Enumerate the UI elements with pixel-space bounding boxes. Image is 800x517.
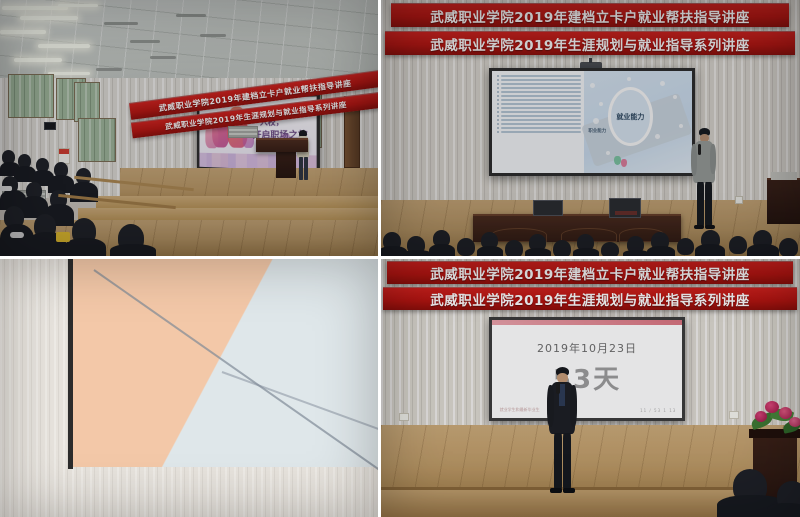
slide-countdown: 2019年10月23日 53天 就业学生和最新毕业生 11 / 53 1 13 — [492, 320, 682, 418]
list-item — [497, 99, 581, 101]
wall-socket — [729, 411, 739, 419]
ceiling-light — [38, 44, 90, 48]
ceiling-fixture — [104, 22, 138, 25]
list-item — [497, 91, 581, 93]
snowball-label: 就业能力 — [616, 112, 644, 122]
list-item — [497, 107, 581, 109]
hall-banner-bottom: 武威职业学院2019年生涯规划与就业指导系列讲座 — [385, 31, 795, 55]
slide-bullet-list — [492, 71, 584, 173]
list-item — [497, 111, 581, 113]
list-item — [497, 83, 581, 85]
window-curtain — [74, 82, 100, 122]
wall-socket — [399, 413, 409, 421]
snowball-label-small: 职业能力 — [588, 128, 606, 134]
hall-banner-bottom: 武威职业学院2019年生涯规划与就业指导系列讲座 — [383, 287, 797, 310]
slide-countdown-value: 53天 — [492, 359, 682, 396]
ceiling-fixture — [130, 40, 160, 43]
flower — [765, 401, 779, 413]
list-item — [497, 127, 581, 129]
list-item — [497, 75, 581, 77]
photo-panel-bottom-left — [0, 259, 378, 517]
ceiling-fixture — [96, 68, 122, 71]
projection-backdrop — [72, 259, 378, 467]
ceiling-light — [0, 30, 46, 34]
projection-screen-frame: 2019年10月23日 53天 就业学生和最新毕业生 11 / 53 1 13 — [489, 317, 685, 421]
slide-date: 2019年10月23日 — [492, 340, 682, 356]
ceiling-fixture — [200, 34, 226, 37]
list-item — [497, 103, 581, 105]
stage-table — [256, 138, 308, 152]
hall-banner-top: 武威职业学院2019年建档立卡户就业帮扶指导讲座 — [387, 261, 793, 284]
wall-socket — [735, 196, 743, 204]
slide-accent-bar — [492, 320, 682, 325]
ceiling-light — [14, 58, 62, 62]
list-item — [497, 131, 581, 133]
stage-monitor — [609, 198, 641, 218]
projection-screen-frame: 就业能力 职业能力 — [489, 68, 695, 176]
projection-screen: 2019年10月23日 53天 就业学生和最新毕业生 11 / 53 1 13 — [492, 320, 682, 418]
list-item — [497, 87, 581, 89]
slide-employability: 就业能力 职业能力 — [492, 71, 692, 173]
photo-panel-bottom-right: 武威职业学院2019年建档立卡户就业帮扶指导讲座 武威职业学院2019年生涯规划… — [381, 259, 800, 517]
ceiling-fixture — [150, 56, 176, 59]
microphone — [556, 382, 560, 394]
list-item — [497, 79, 581, 81]
window-curtain — [8, 74, 54, 118]
hall-banner-top: 武威职业学院2019年建档立卡户就业帮扶指导讲座 — [391, 3, 789, 27]
slide-snowball-diagram: 就业能力 职业能力 — [584, 71, 692, 173]
stage-monitor — [533, 200, 563, 216]
ceiling-fixture — [176, 14, 206, 17]
slide-footnote: 就业学生和最新毕业生 — [500, 407, 540, 413]
flower — [789, 417, 800, 427]
ceiling-light — [58, 4, 98, 7]
stage-speaker — [691, 128, 717, 228]
flower — [779, 407, 792, 419]
list-item — [497, 95, 581, 97]
flower-arrangement — [749, 399, 800, 437]
list-item — [497, 115, 581, 117]
hall-banner-top-text: 武威职业学院2019年建档立卡户就业帮扶指导讲座 — [430, 263, 750, 283]
side-podium — [767, 178, 800, 224]
hall-banner-bottom-text: 武威职业学院2019年生涯规划与就业指导系列讲座 — [430, 289, 750, 309]
list-item — [497, 119, 581, 121]
wall-speaker — [44, 122, 56, 130]
microphone — [698, 144, 701, 155]
ceiling-light — [48, 72, 90, 75]
hall-banner-top-text: 武威职业学院2019年建档立卡户就业帮扶指导讲座 — [430, 6, 750, 26]
air-vent — [228, 126, 258, 138]
flower — [755, 411, 767, 422]
ceiling-light — [20, 16, 78, 20]
photo-panel-top-right: 武威职业学院2019年建档立卡户就业帮扶指导讲座 武威职业学院2019年生涯规划… — [381, 0, 800, 256]
photo-panel-top-left: 入校， 开启职场之旅 一 幸福 武威职业学院2019年建档立卡户就业帮扶指导讲座… — [0, 0, 378, 256]
hall-banner-bottom-text: 武威职业学院2019年生涯规划与就业指导系列讲座 — [430, 34, 750, 54]
list-item — [497, 123, 581, 125]
slide-pager: 11 / 53 1 13 — [640, 408, 676, 413]
projection-screen: 就业能力 职业能力 — [492, 71, 692, 173]
stage-presenter — [547, 367, 577, 493]
photo-collage: 入校， 开启职场之旅 一 幸福 武威职业学院2019年建档立卡户就业帮扶指导讲座… — [0, 0, 800, 517]
stage-curtain — [78, 118, 116, 162]
